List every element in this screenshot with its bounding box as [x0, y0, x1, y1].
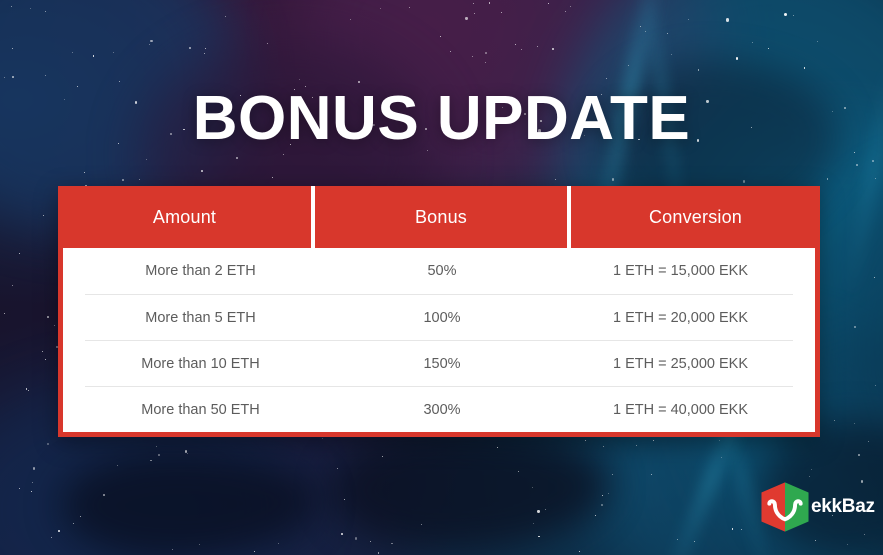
column-header-conversion: Conversion: [571, 186, 820, 248]
cell-conversion: 1 ETH = 25,000 EKK: [568, 356, 793, 372]
brand-name: ekkBaz: [811, 496, 875, 518]
cell-amount: More than 2 ETH: [85, 263, 316, 279]
table-row: More than 50 ETH 300% 1 ETH = 40,000 EKK: [85, 386, 793, 432]
page-title: BONUS UPDATE: [0, 88, 883, 150]
cell-amount: More than 5 ETH: [85, 310, 316, 326]
cell-conversion: 1 ETH = 40,000 EKK: [568, 402, 793, 418]
cell-bonus: 100%: [316, 310, 568, 326]
cell-conversion: 1 ETH = 15,000 EKK: [568, 263, 793, 279]
cell-amount: More than 10 ETH: [85, 356, 316, 372]
ekkbaz-cube-icon: [757, 479, 813, 535]
cell-amount: More than 50 ETH: [85, 402, 316, 418]
table-row: More than 5 ETH 100% 1 ETH = 20,000 EKK: [85, 294, 793, 340]
table-row: More than 2 ETH 50% 1 ETH = 15,000 EKK: [85, 248, 793, 294]
table-row: More than 10 ETH 150% 1 ETH = 25,000 EKK: [85, 340, 793, 386]
cell-bonus: 50%: [316, 263, 568, 279]
brand-logo: ekkBaz: [757, 479, 875, 535]
column-header-bonus: Bonus: [315, 186, 567, 248]
cell-conversion: 1 ETH = 20,000 EKK: [568, 310, 793, 326]
cell-bonus: 150%: [316, 356, 568, 372]
cell-bonus: 300%: [316, 402, 568, 418]
slide-canvas: BONUS UPDATE Amount Bonus Conversion Mor…: [0, 0, 883, 555]
bonus-table: Amount Bonus Conversion More than 2 ETH …: [58, 186, 820, 437]
table-header-row: Amount Bonus Conversion: [58, 186, 820, 248]
table-body: More than 2 ETH 50% 1 ETH = 15,000 EKK M…: [63, 248, 815, 432]
column-header-amount: Amount: [58, 186, 311, 248]
